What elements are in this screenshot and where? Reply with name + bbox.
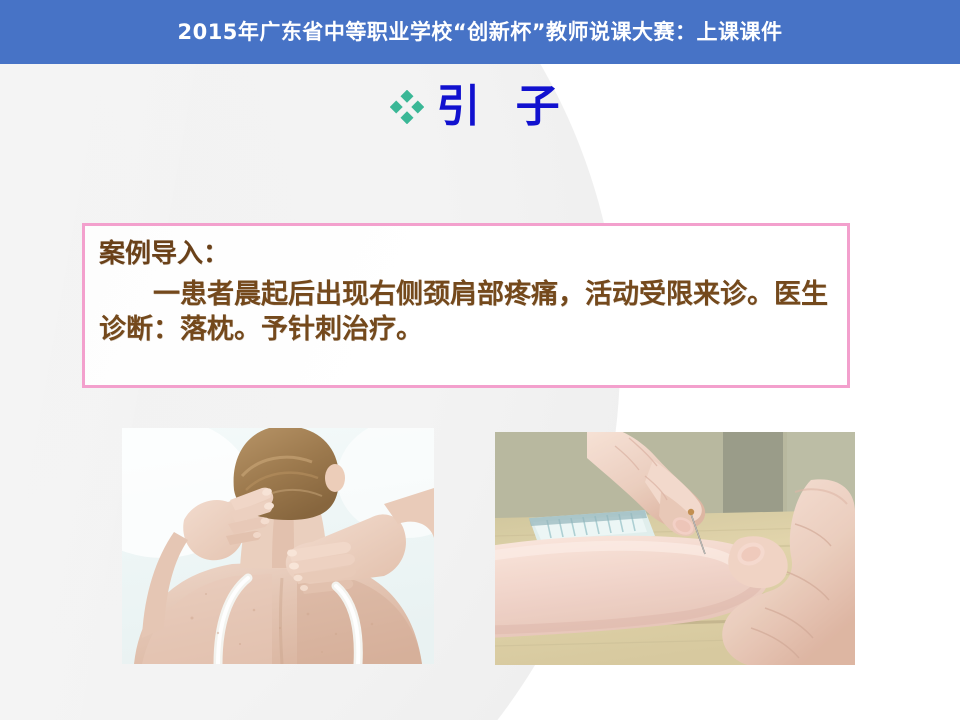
page-title: 引 子 — [436, 85, 569, 129]
top-banner: 2015年广东省中等职业学校“创新杯”教师说课大赛：上课课件 — [0, 0, 960, 64]
banner-title: 2015年广东省中等职业学校“创新杯”教师说课大赛：上课课件 — [177, 22, 782, 43]
case-body-text: 一患者晨起后出现右侧颈肩部疼痛，活动受限来诊。医生诊断：落枕。予针刺治疗。 — [99, 277, 833, 348]
case-heading: 案例导入： — [99, 238, 833, 271]
slide-title-row: 引 子 — [0, 76, 960, 138]
neck-pain-photo — [122, 428, 434, 664]
case-introduction-box: 案例导入： 一患者晨起后出现右侧颈肩部疼痛，活动受限来诊。医生诊断：落枕。予针刺… — [82, 223, 850, 388]
acupuncture-photo — [495, 432, 855, 665]
diamond-cluster-bullet-icon — [390, 90, 424, 124]
slide-canvas: 2015年广东省中等职业学校“创新杯”教师说课大赛：上课课件 引 子 案例导入：… — [0, 0, 960, 720]
